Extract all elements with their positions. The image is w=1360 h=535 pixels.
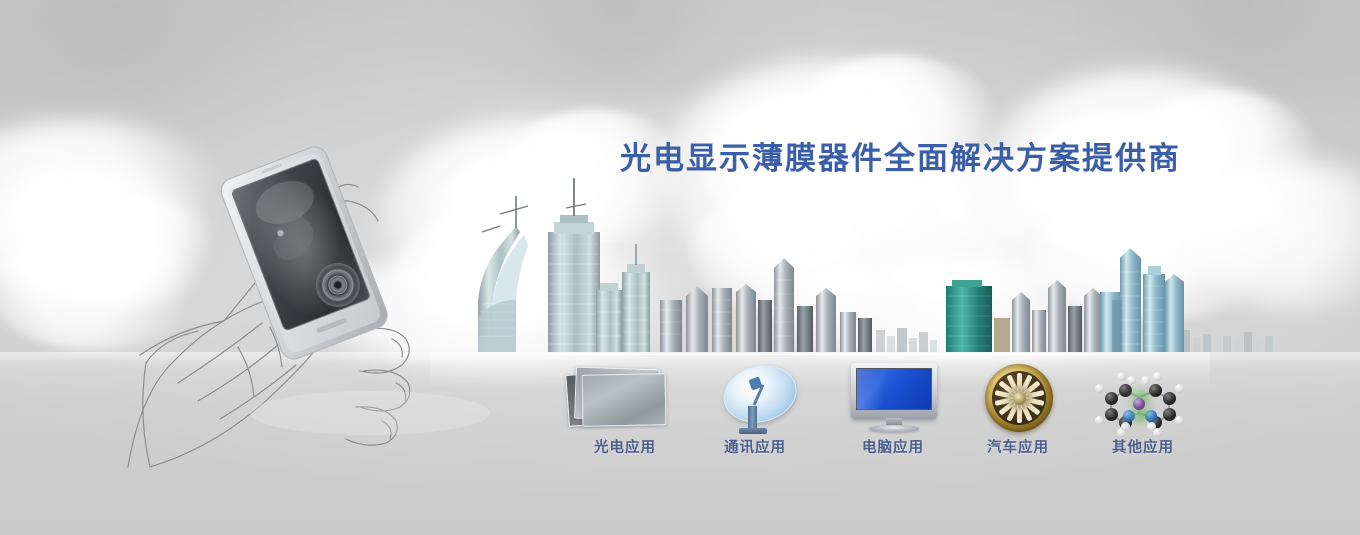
alloy-wheel-icon [958,362,1078,436]
molecule-atom-h [1175,416,1184,425]
molecule-atom-c [1105,408,1118,421]
application-label-communication: 通讯应用 [680,436,830,457]
application-label-optoelectronic: 光电应用 [550,436,700,457]
molecule-atom-m [1133,398,1145,410]
molecule-atom-h [1175,384,1184,393]
molecule-atom-h [1095,384,1104,393]
molecule-icon [1083,362,1203,436]
molecule-atom-h [1127,376,1136,385]
monitor-icon [833,362,953,436]
molecule-atom-h [1095,416,1104,425]
application-item-communication[interactable]: 通讯应用 [680,362,830,457]
molecule-atom-h [1141,376,1150,385]
molecule-atom-c [1163,392,1176,405]
application-list: 光电应用 通讯应用 [0,0,1360,535]
application-item-optoelectronic[interactable]: 光电应用 [550,362,700,457]
application-label-other: 其他应用 [1068,436,1218,457]
molecule-atom-h [1121,422,1130,431]
molecule-atom-h [1147,422,1156,431]
application-item-other[interactable]: 其他应用 [1068,362,1218,457]
molecule-atom-h [1153,372,1162,381]
glass-film-sheets-icon [565,362,685,436]
molecule-atom-c [1149,384,1162,397]
molecule-atom-c [1105,392,1118,405]
satellite-dish-icon [695,362,815,436]
molecule-atom-c [1119,384,1132,397]
hero-banner: 光电显示薄膜器件全面解决方案提供商 光电应用 通讯应 [0,0,1360,535]
molecule-atom-h [1117,372,1126,381]
